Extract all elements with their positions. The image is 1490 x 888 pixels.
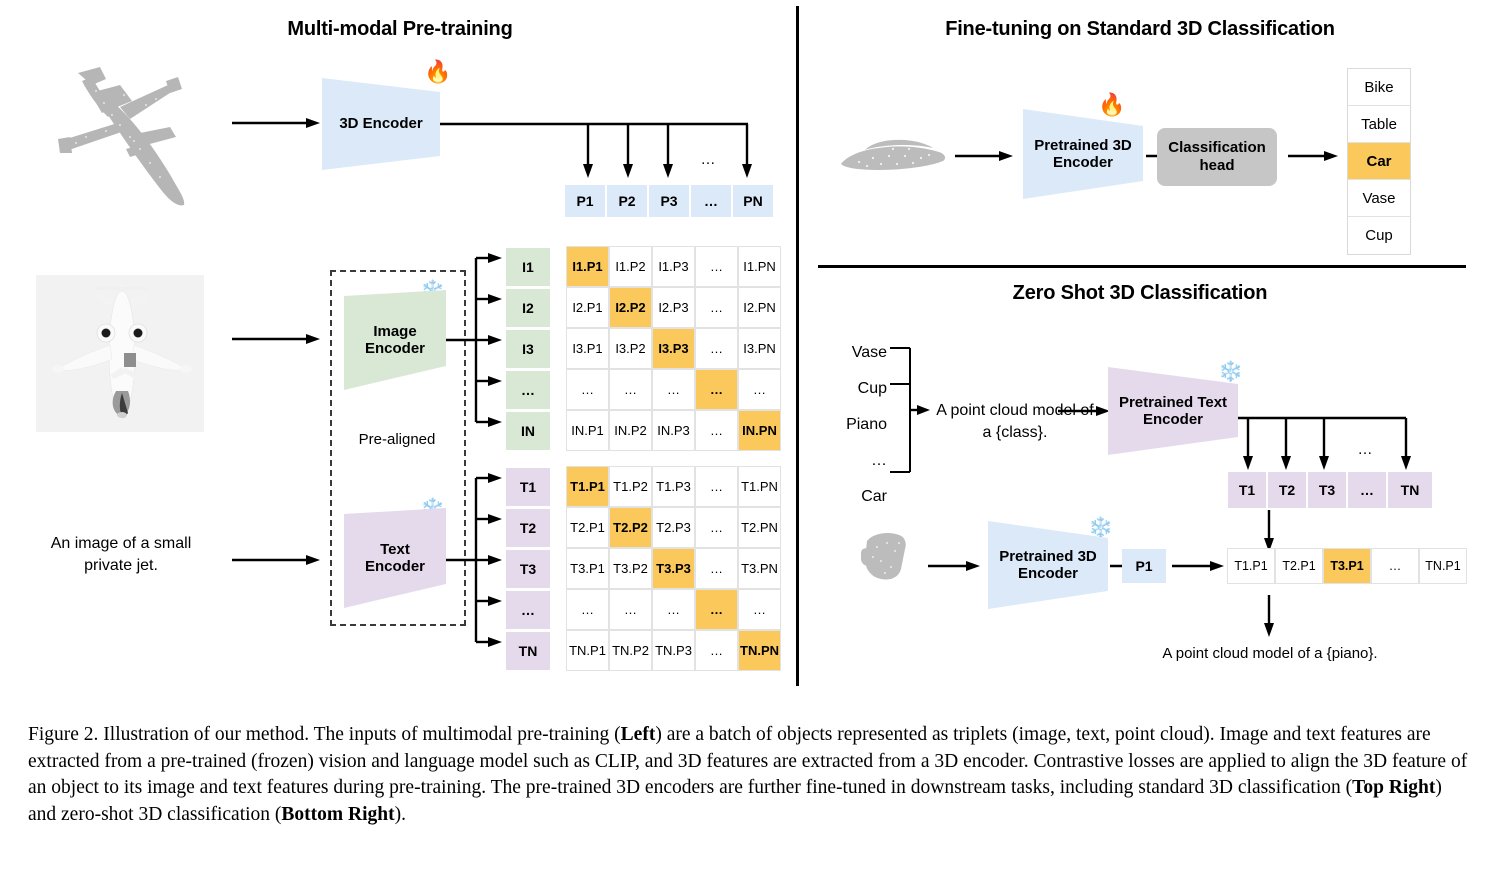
caption-emphasis: Left <box>621 724 656 745</box>
caption-text: ). <box>395 804 406 825</box>
p-token-row: P1 P2 P3 … PN <box>565 185 773 217</box>
matrix-cell: I2.PN <box>738 287 781 328</box>
t-token[interactable]: T3 <box>1308 472 1346 508</box>
matrix-row: I2.P1I2.P2I2.P3…I2.PN <box>566 287 781 328</box>
branch-text-encoder-to-t-tokens <box>446 470 504 650</box>
panel-horizontal-divider <box>818 265 1466 268</box>
bottom-right-panel-title: Zero Shot 3D Classification <box>900 282 1380 305</box>
image-encoder-label-line1: Image <box>365 323 425 340</box>
arrow-pointcloud-to-3d-encoder <box>232 117 320 129</box>
zeroshot-similarity-row: T1.P1T2.P1T3.P1…TN.P1 <box>1227 548 1467 584</box>
text-input-line1: An image of a small <box>28 533 214 555</box>
arrow-t-tokens-to-similarity <box>1263 510 1275 552</box>
p-token[interactable]: … <box>691 185 731 217</box>
text-encoder-label-line2: Encoder <box>365 558 425 575</box>
matrix-row: TN.P1TN.P2TN.P3…TN.PN <box>566 630 781 671</box>
zeroshot-similarity-cell: TN.P1 <box>1419 548 1467 584</box>
class-item[interactable]: Table <box>1348 106 1410 143</box>
zeroshot-class-item[interactable]: Vase <box>825 335 887 371</box>
matrix-cell: I2.P2 <box>609 287 652 328</box>
matrix-cell: T2.P3 <box>652 507 695 548</box>
matrix-row: T2.P1T2.P2T2.P3…T2.PN <box>566 507 781 548</box>
svg-text:…: … <box>1358 441 1373 458</box>
t-token-column: T1 T2 T3 … TN <box>506 468 550 670</box>
branch-3d-to-p-tokens: … <box>440 118 760 184</box>
i-token[interactable]: I2 <box>506 289 550 327</box>
pretrained-text-encoder-label-line1: Pretrained Text <box>1119 394 1227 411</box>
t-token[interactable]: T3 <box>506 550 550 588</box>
class-item[interactable]: Cup <box>1348 217 1410 254</box>
zeroshot-pretrained-3d-encoder-block[interactable]: Pretrained 3D Encoder <box>988 521 1108 609</box>
t-token[interactable]: … <box>506 591 550 629</box>
matrix-cell: T3.P3 <box>652 548 695 589</box>
matrix-cell: T1.P3 <box>652 466 695 507</box>
zeroshot-p-token[interactable]: P1 <box>1122 549 1166 583</box>
pretrained-3d-encoder-block[interactable]: Pretrained 3D Encoder <box>1023 109 1143 199</box>
zeroshot-similarity-cell: T1.P1 <box>1227 548 1275 584</box>
p-token[interactable]: P2 <box>607 185 647 217</box>
matrix-cell: T3.PN <box>738 548 781 589</box>
zeroshot-class-item[interactable]: Piano <box>825 407 887 443</box>
text-encoder-block[interactable]: Text Encoder <box>344 508 446 608</box>
zeroshot-class-item[interactable]: … <box>825 443 887 479</box>
classification-head-block[interactable]: Classification head <box>1157 128 1277 186</box>
zeroshot-class-item[interactable]: Car <box>825 479 887 515</box>
text-input-line2: private jet. <box>28 555 214 577</box>
matrix-cell: … <box>695 466 738 507</box>
matrix-cell: T3.P2 <box>609 548 652 589</box>
caption-text: Figure 2. Illustration of our method. Th… <box>28 724 621 745</box>
i-token[interactable]: IN <box>506 412 550 450</box>
matrix-cell: … <box>695 548 738 589</box>
matrix-cell: I1.P2 <box>609 246 652 287</box>
matrix-cell: T1.P2 <box>609 466 652 507</box>
matrix-cell: … <box>652 589 695 630</box>
matrix-cell: T1.PN <box>738 466 781 507</box>
matrix-cell: … <box>695 287 738 328</box>
matrix-cell: I3.P3 <box>652 328 695 369</box>
matrix-cell: … <box>695 410 738 451</box>
left-panel-title: Multi-modal Pre-training <box>250 18 550 41</box>
airplane-point-cloud <box>20 45 240 220</box>
matrix-cell: … <box>695 369 738 410</box>
matrix-cell: … <box>566 369 609 410</box>
matrix-row: T3.P1T3.P2T3.P3…T3.PN <box>566 548 781 589</box>
arrow-image-to-image-encoder <box>232 333 320 345</box>
t-token[interactable]: T1 <box>1228 472 1266 508</box>
matrix-cell: IN.P2 <box>609 410 652 451</box>
matrix-row: …………… <box>566 589 781 630</box>
zeroshot-similarity-cell: T3.P1 <box>1323 548 1371 584</box>
matrix-cell: … <box>738 369 781 410</box>
pretrained-text-encoder-block[interactable]: Pretrained Text Encoder <box>1108 367 1238 455</box>
t-token[interactable]: TN <box>506 632 550 670</box>
matrix-row: IN.P1IN.P2IN.P3…IN.PN <box>566 410 781 451</box>
matrix-cell: … <box>695 589 738 630</box>
t-token[interactable]: T1 <box>506 468 550 506</box>
p-token[interactable]: P3 <box>649 185 689 217</box>
matrix-row: I1.P1I1.P2I1.P3…I1.PN <box>566 246 781 287</box>
piano-point-cloud <box>855 525 921 587</box>
arrow-similarity-to-result <box>1263 595 1275 637</box>
matrix-cell: I2.P3 <box>652 287 695 328</box>
matrix-cell: I3.PN <box>738 328 781 369</box>
svg-text:…: … <box>701 151 716 168</box>
car-point-cloud <box>835 128 951 182</box>
matrix-cell: I1.P3 <box>652 246 695 287</box>
matrix-cell: T3.P1 <box>566 548 609 589</box>
matrix-cell: IN.P1 <box>566 410 609 451</box>
matrix-cell: TN.PN <box>738 630 781 671</box>
matrix-cell: … <box>652 369 695 410</box>
t-token[interactable]: T2 <box>506 509 550 547</box>
zeroshot-result-text: A point cloud model of a {piano}. <box>1140 645 1400 662</box>
i-token-column: I1 I2 I3 … IN <box>506 248 550 450</box>
arrow-prompt-to-text-encoder <box>1058 405 1110 417</box>
arrow-text-to-text-encoder <box>232 554 320 566</box>
t-token[interactable]: … <box>1348 472 1386 508</box>
matrix-cell: IN.PN <box>738 410 781 451</box>
matrix-cell: TN.P1 <box>566 630 609 671</box>
zeroshot-class-item[interactable]: Cup <box>825 371 887 407</box>
branch-text-encoder-to-zeroshot-t-tokens: … <box>1236 412 1418 474</box>
figure-caption: Figure 2. Illustration of our method. Th… <box>28 722 1468 828</box>
matrix-cell: T1.P1 <box>566 466 609 507</box>
matrix-cell: … <box>695 630 738 671</box>
image-similarity-matrix: I1.P1I1.P2I1.P3…I1.PNI2.P1I2.P2I2.P3…I2.… <box>566 246 781 451</box>
matrix-cell: TN.P2 <box>609 630 652 671</box>
p-token[interactable]: P1 <box>565 185 605 217</box>
text-similarity-matrix: T1.P1T1.P2T1.P3…T1.PNT2.P1T2.P2T2.P3…T2.… <box>566 466 781 671</box>
prealigned-label: Pre-aligned <box>338 431 456 448</box>
t-token[interactable]: TN <box>1388 472 1432 508</box>
matrix-cell: … <box>609 369 652 410</box>
image-encoder-block[interactable]: Image Encoder <box>344 290 446 390</box>
classification-class-list: BikeTableCarVaseCup <box>1347 68 1411 255</box>
i-token[interactable]: I3 <box>506 330 550 368</box>
classification-head-label-line1: Classification <box>1168 139 1266 157</box>
encoder-3d-label: 3D Encoder <box>339 115 422 132</box>
pretrained-3d-encoder-label-line2: Encoder <box>1034 154 1132 171</box>
matrix-cell: TN.P3 <box>652 630 695 671</box>
pretrained-3d-encoder-label-line1: Pretrained 3D <box>1034 137 1132 154</box>
text-input-prompt: An image of a small private jet. <box>28 533 214 576</box>
encoder-3d-block[interactable]: 3D Encoder <box>322 78 440 170</box>
matrix-cell: … <box>695 328 738 369</box>
arrow-p1-to-similarity <box>1172 560 1224 572</box>
arrow-piano-to-3d-encoder <box>928 560 980 572</box>
zeroshot-similarity-cell: … <box>1371 548 1419 584</box>
class-item[interactable]: Vase <box>1348 180 1410 217</box>
matrix-cell: I1.P1 <box>566 246 609 287</box>
matrix-row: T1.P1T1.P2T1.P3…T1.PN <box>566 466 781 507</box>
matrix-row: I3.P1I3.P2I3.P3…I3.PN <box>566 328 781 369</box>
class-item[interactable]: Bike <box>1348 69 1410 106</box>
matrix-row: …………… <box>566 369 781 410</box>
p-token[interactable]: PN <box>733 185 773 217</box>
arrow-head-to-classes <box>1288 150 1338 162</box>
airplane-render-image <box>36 275 204 432</box>
matrix-cell: T2.P1 <box>566 507 609 548</box>
matrix-cell: T2.PN <box>738 507 781 548</box>
matrix-cell: … <box>695 507 738 548</box>
pretrained-text-encoder-label-line2: Encoder <box>1119 411 1227 428</box>
zeroshot-similarity-cell: T2.P1 <box>1275 548 1323 584</box>
panel-vertical-divider <box>796 6 799 686</box>
t-token[interactable]: T2 <box>1268 472 1306 508</box>
matrix-cell: … <box>566 589 609 630</box>
class-item-predicted[interactable]: Car <box>1348 143 1410 180</box>
matrix-cell: I3.P2 <box>609 328 652 369</box>
top-right-panel-title: Fine-tuning on Standard 3D Classificatio… <box>850 18 1430 41</box>
matrix-cell: I3.P1 <box>566 328 609 369</box>
arrow-car-to-pretrained-encoder <box>955 150 1013 162</box>
i-token[interactable]: … <box>506 371 550 409</box>
matrix-cell: I1.PN <box>738 246 781 287</box>
zeroshot-t-token-row: T1 T2 T3 … TN <box>1228 472 1432 508</box>
zeroshot-class-list: VaseCupPiano…Car <box>825 335 887 515</box>
i-token[interactable]: I1 <box>506 248 550 286</box>
branch-image-encoder-to-i-tokens <box>446 250 504 430</box>
prompt-line2: a {class}. <box>920 422 1110 444</box>
zeroshot-3d-encoder-label-line1: Pretrained 3D <box>999 548 1097 565</box>
matrix-cell: … <box>738 589 781 630</box>
caption-emphasis: Top Right <box>1352 777 1435 798</box>
classification-head-label-line2: head <box>1168 157 1266 175</box>
zeroshot-3d-encoder-label-line2: Encoder <box>999 565 1097 582</box>
matrix-cell: … <box>695 246 738 287</box>
text-encoder-label-line1: Text <box>365 541 425 558</box>
matrix-cell: T2.P2 <box>609 507 652 548</box>
caption-emphasis: Bottom Right <box>281 804 394 825</box>
matrix-cell: I2.P1 <box>566 287 609 328</box>
matrix-cell: IN.P3 <box>652 410 695 451</box>
image-encoder-label-line2: Encoder <box>365 340 425 357</box>
matrix-cell: … <box>609 589 652 630</box>
